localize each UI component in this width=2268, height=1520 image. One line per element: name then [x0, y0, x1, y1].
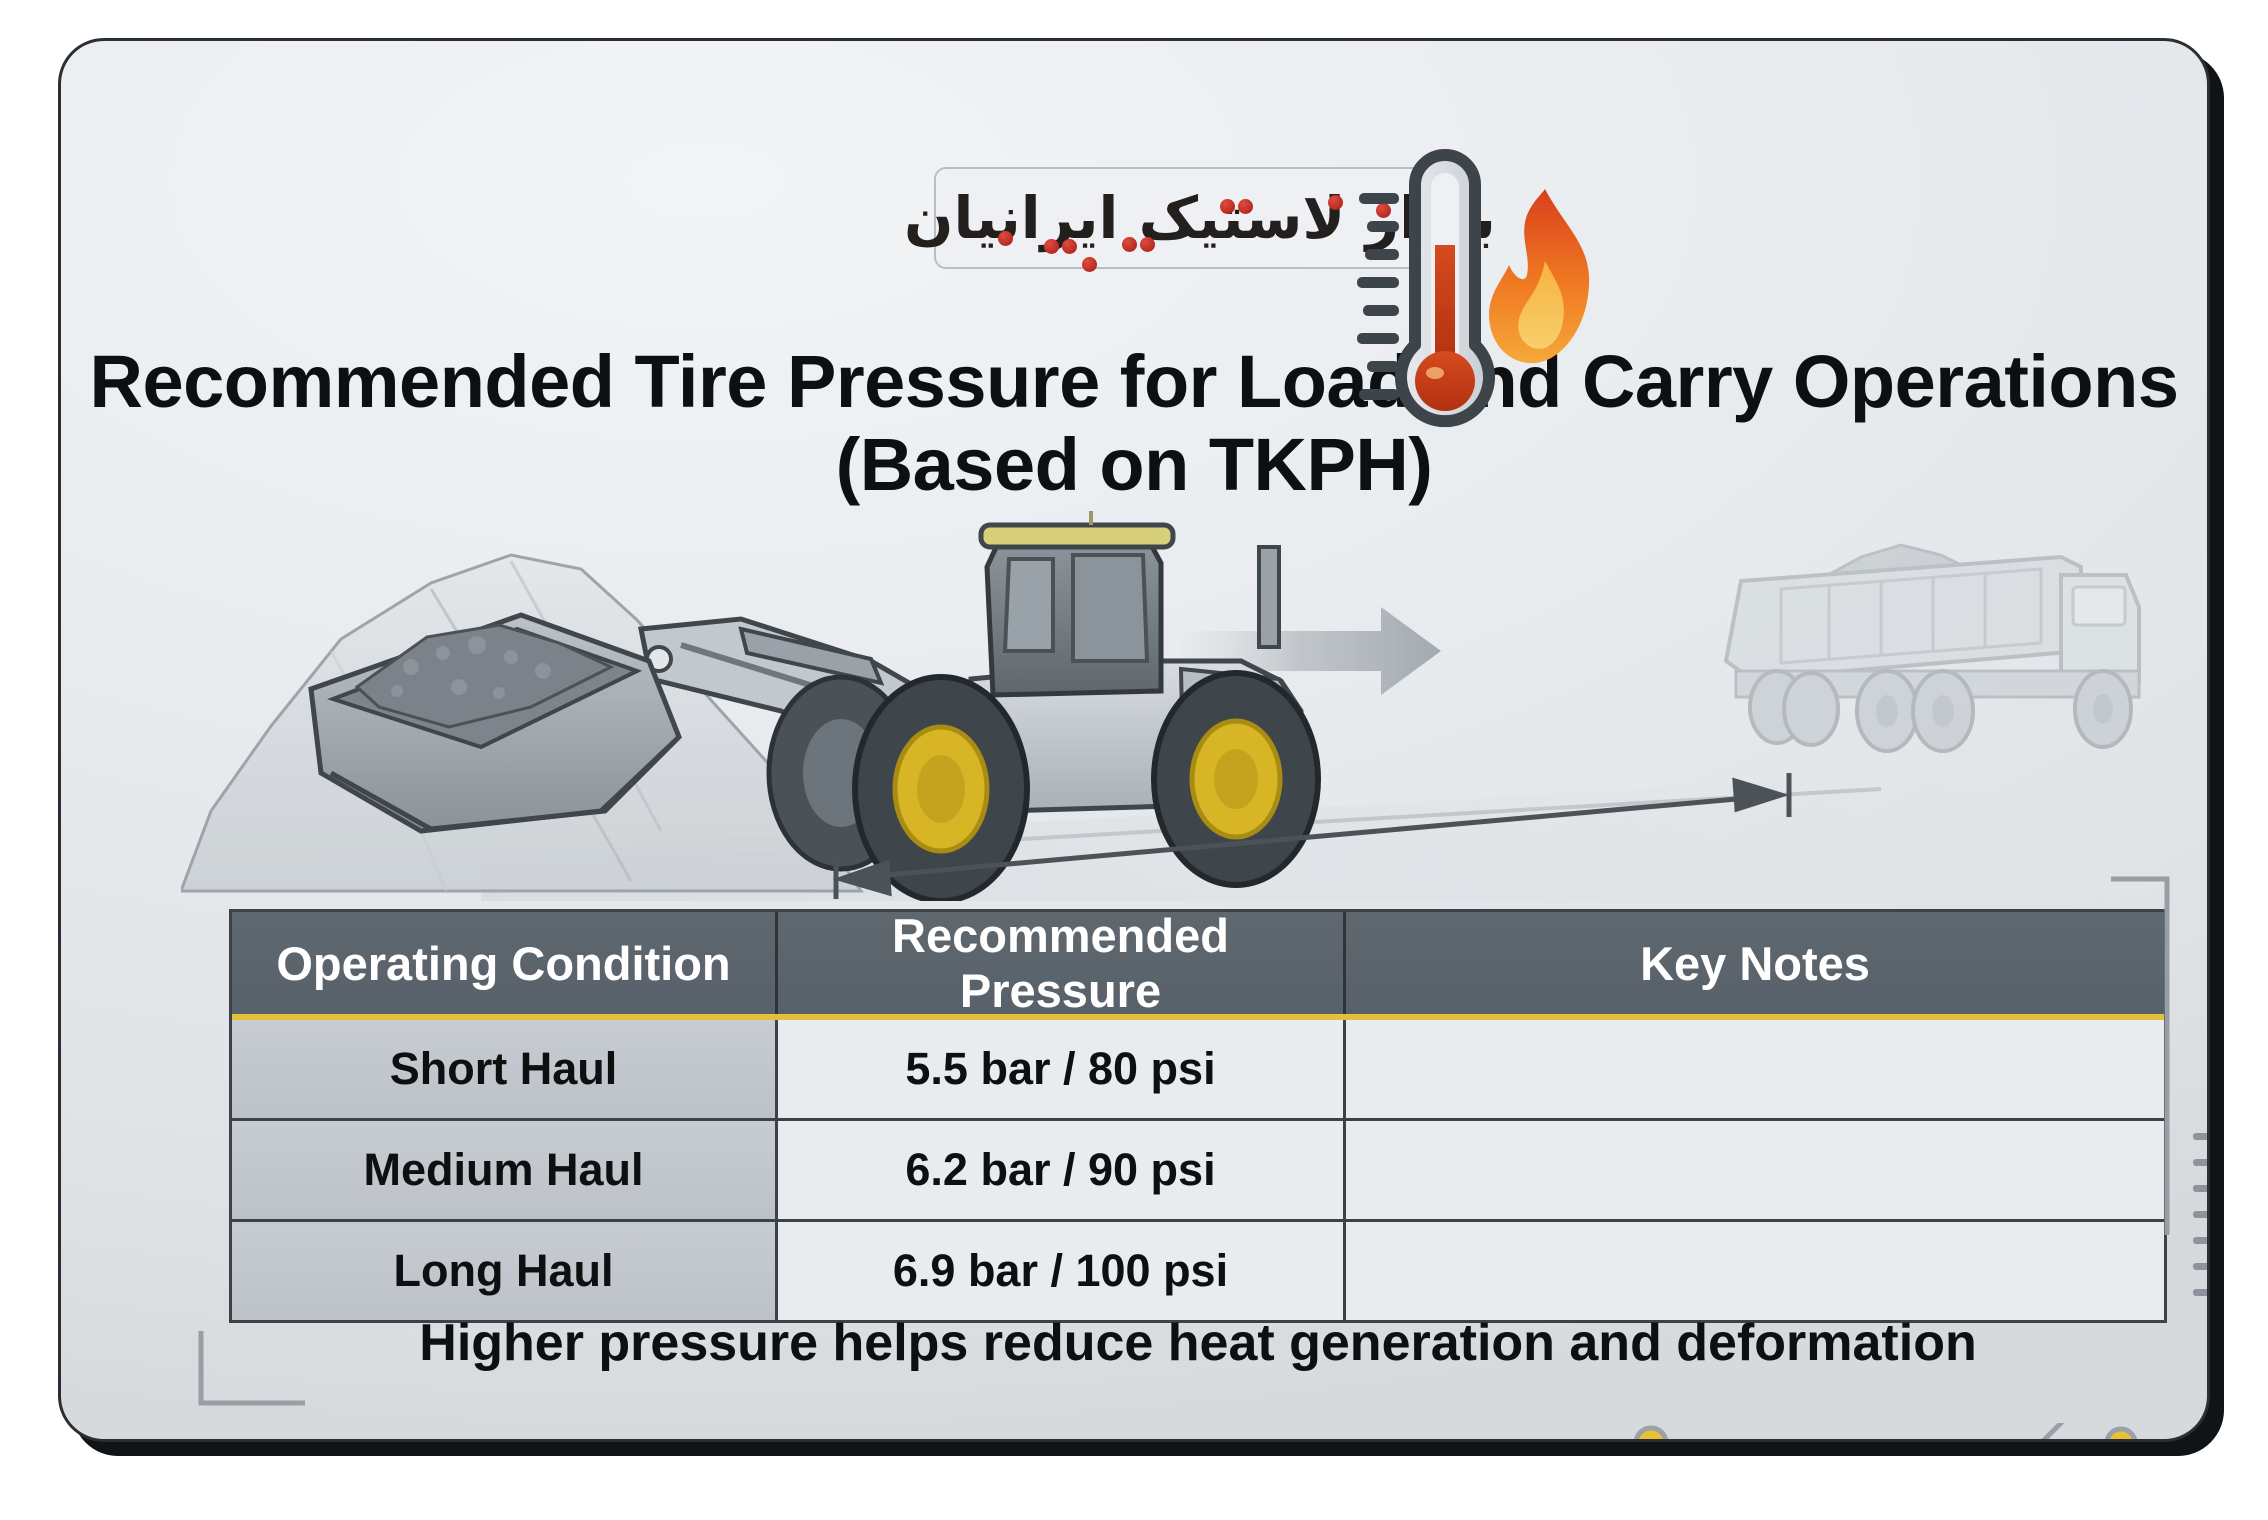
page-title-line-1: Recommended Tire Pressure for Load and C… [90, 340, 2179, 423]
logo-dot-icon [1376, 203, 1391, 218]
page-title: Recommended Tire Pressure for Load and C… [61, 341, 2207, 507]
cell-key-notes [1346, 1020, 2164, 1118]
scale-ticks-right [2189, 1131, 2210, 1291]
infographic-card: بازار لاستیک ایرانیان Recommended Tire P… [58, 38, 2210, 1442]
haul-dump-truck-icon [1726, 545, 2139, 751]
logo-dot-icon [1044, 239, 1059, 254]
logo-dot-icon [998, 231, 1013, 246]
infographic-canvas: بازار لاستیک ایرانیان Recommended Tire P… [0, 0, 2268, 1520]
logo-dot-icon [1220, 199, 1235, 214]
logo-dot-icon [1082, 257, 1097, 272]
logo-dot-icon [1238, 199, 1253, 214]
footer-note: Higher pressure helps reduce heat genera… [229, 1313, 2167, 1373]
cell-operating-condition: Long Haul [232, 1222, 778, 1320]
brand-logo-text: بازار لاستیک ایرانیان [904, 189, 1496, 247]
logo-dot-icon [1062, 239, 1077, 254]
logo-dot-icon [1140, 237, 1155, 252]
column-header-recommended-pressure: Recommended Pressure [778, 912, 1346, 1014]
logo-dot-icon [1328, 195, 1343, 210]
logo-dot-icon [1122, 237, 1137, 252]
table-row[interactable]: Long Haul 6.9 bar / 100 psi [232, 1222, 2164, 1320]
circuit-trace-decoration [1621, 1423, 2181, 1442]
page-title-line-2: (Based on TKPH) [61, 424, 2207, 507]
table-header-row: Operating Condition Recommended Pressure… [232, 912, 2164, 1020]
column-header-key-notes: Key Notes [1346, 912, 2164, 1014]
cell-operating-condition: Short Haul [232, 1020, 778, 1118]
table-body: Short Haul 5.5 bar / 80 psi Medium Haul … [232, 1020, 2164, 1320]
cell-recommended-pressure: 6.9 bar / 100 psi [778, 1222, 1346, 1320]
column-header-operating-condition: Operating Condition [232, 912, 778, 1014]
drive-tire-right [1154, 673, 1318, 885]
cell-operating-condition: Medium Haul [232, 1121, 778, 1219]
cell-key-notes [1346, 1222, 2164, 1320]
cell-recommended-pressure: 5.5 bar / 80 psi [778, 1020, 1346, 1118]
pressure-table: Operating Condition Recommended Pressure… [229, 909, 2167, 1323]
table-row[interactable]: Medium Haul 6.2 bar / 90 psi [232, 1121, 2164, 1222]
operation-illustration [181, 511, 2161, 901]
table-row[interactable]: Short Haul 5.5 bar / 80 psi [232, 1020, 2164, 1121]
brand-logo-box: بازار لاستیک ایرانیان [934, 167, 1466, 269]
cell-recommended-pressure: 6.2 bar / 90 psi [778, 1121, 1346, 1219]
cell-key-notes [1346, 1121, 2164, 1219]
